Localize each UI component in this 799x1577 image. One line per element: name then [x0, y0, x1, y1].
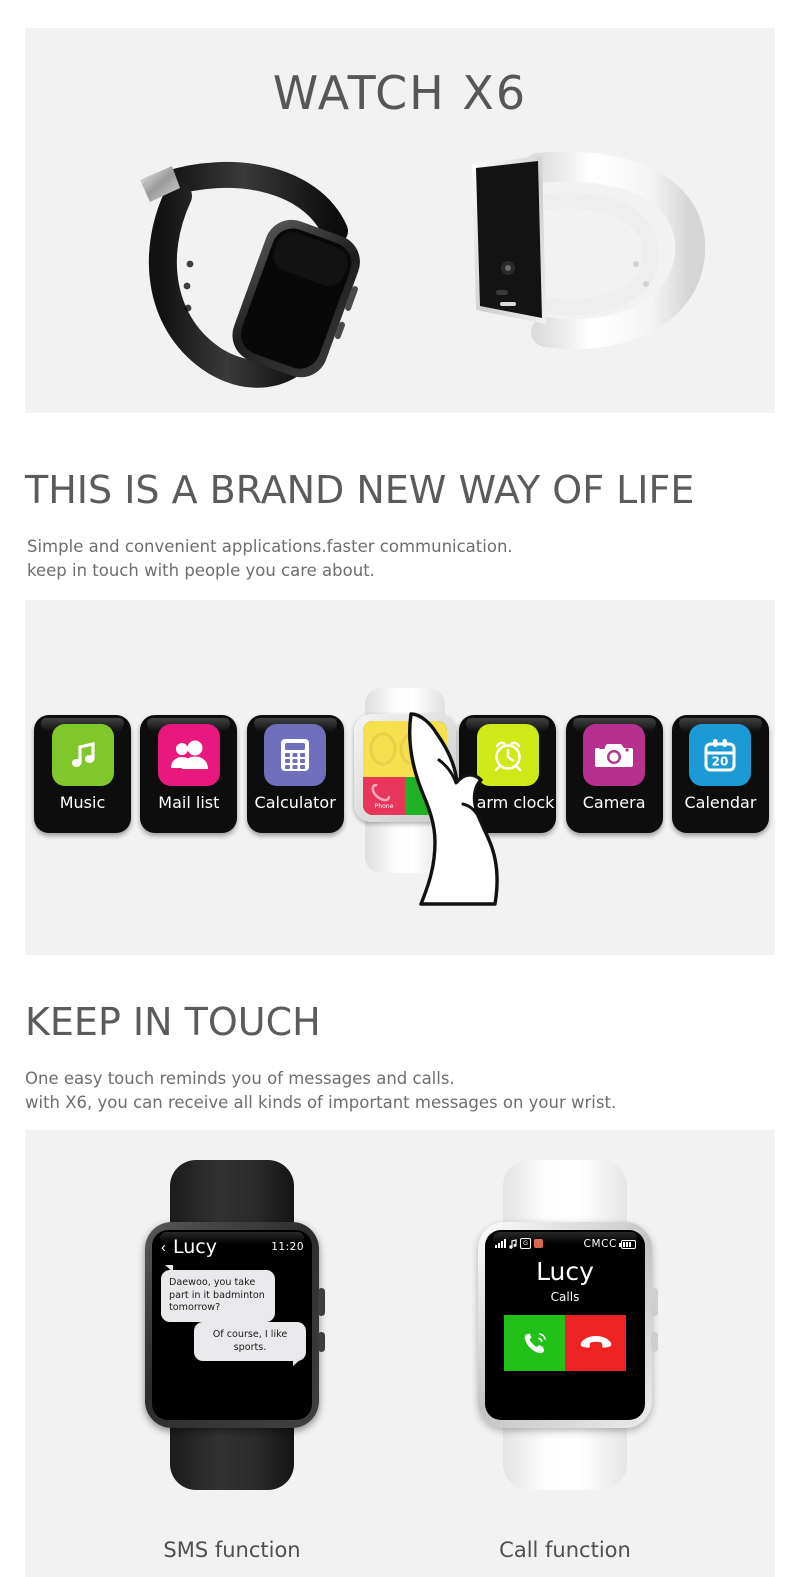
sms-caption: SMS function	[117, 1538, 347, 1562]
g-network-badge-icon: G	[520, 1238, 531, 1249]
camera-icon	[583, 724, 645, 786]
sms-timestamp: 11:20	[271, 1241, 304, 1253]
music-note-icon	[52, 724, 114, 786]
sms-watch-side-button-bottom[interactable]	[318, 1332, 325, 1352]
app-label-mail-list: Mail list	[158, 793, 219, 812]
sms-watch-side-button-top[interactable]	[318, 1288, 325, 1316]
app-label-calculator: Calculator	[255, 793, 336, 812]
section-sub-touch-line2: with X6, you can receive all kinds of im…	[25, 1090, 616, 1115]
sms-bubble-outgoing: Of course, I like sports.	[194, 1322, 306, 1361]
status-right-group: CMCC	[584, 1238, 636, 1250]
sms-bubble-incoming: Daewoo, you take part in it badminton to…	[161, 1270, 275, 1322]
status-left-group: G	[495, 1238, 543, 1249]
section-sub-life-line1: Simple and convenient applications.faste…	[27, 534, 513, 559]
hero-white-watch-image	[450, 146, 715, 361]
back-chevron-icon[interactable]: ‹	[161, 1239, 166, 1257]
calendar-day-number: 20	[712, 755, 729, 769]
app-tile-music[interactable]: Music	[34, 715, 131, 833]
section-title-life: THIS IS A BRAND NEW WAY OF LIFE	[25, 468, 694, 512]
call-watch-side-button-top[interactable]	[651, 1288, 658, 1316]
app-label-calendar: Calendar	[684, 793, 756, 812]
signal-bars-icon	[495, 1239, 506, 1248]
sms-watch-screen: ‹ Lucy 11:20 Daewoo, you take part in it…	[152, 1230, 312, 1420]
call-contact-name: Lucy	[485, 1257, 645, 1286]
phone-answer-icon	[520, 1328, 550, 1358]
music-note-status-icon	[509, 1239, 517, 1249]
app-tile-mail-list[interactable]: Mail list	[140, 715, 237, 833]
calculator-icon	[264, 724, 326, 786]
app-tile-calendar[interactable]: 20 Calendar	[672, 715, 769, 833]
section-sub-life-line2: keep in touch with people you care about…	[27, 558, 375, 583]
carrier-label: CMCC	[584, 1238, 617, 1250]
battery-icon	[621, 1240, 636, 1249]
center-watch-demo[interactable]: Phone	[351, 688, 459, 873]
phone-hangup-icon	[579, 1330, 613, 1356]
call-status-label: Calls	[485, 1290, 645, 1304]
accept-call-button[interactable]	[504, 1315, 565, 1371]
call-action-buttons	[504, 1315, 626, 1371]
calendar-icon: 20	[689, 724, 751, 786]
call-caption: Call function	[450, 1538, 680, 1562]
app-tile-camera[interactable]: Camera	[566, 715, 663, 833]
page-title: WATCH X6	[25, 66, 775, 120]
call-watch: G CMCC Lucy Calls	[465, 1160, 665, 1490]
app-label-music: Music	[60, 793, 106, 812]
call-demo-column: G CMCC Lucy Calls	[450, 1160, 680, 1500]
call-status-bar: G CMCC	[485, 1238, 645, 1252]
sms-demo-column: ‹ Lucy 11:20 Daewoo, you take part in it…	[117, 1160, 347, 1500]
call-watch-side-button-bottom[interactable]	[651, 1332, 658, 1352]
hero-black-watch-image	[120, 136, 410, 401]
sms-contact-name: Lucy	[173, 1236, 217, 1258]
alert-square-icon	[534, 1239, 543, 1248]
sms-header: ‹ Lucy 11:20	[152, 1239, 312, 1259]
app-tile-calculator[interactable]: Calculator	[247, 715, 344, 833]
decline-call-button[interactable]	[565, 1315, 626, 1371]
sms-watch: ‹ Lucy 11:20 Daewoo, you take part in it…	[132, 1160, 332, 1490]
hero-panel: WATCH X6	[25, 28, 775, 413]
call-watch-screen: G CMCC Lucy Calls	[485, 1230, 645, 1420]
app-label-camera: Camera	[583, 793, 646, 812]
section-title-touch: KEEP IN TOUCH	[25, 1000, 321, 1044]
product-landing-page: WATCH X6	[0, 0, 799, 1577]
section-sub-touch-line1: One easy touch reminds you of messages a…	[25, 1066, 455, 1091]
keep-in-touch-panel: ‹ Lucy 11:20 Daewoo, you take part in it…	[25, 1130, 775, 1577]
hero-product-stage	[25, 128, 775, 413]
pointing-hand-icon	[377, 708, 502, 908]
contacts-icon	[158, 724, 220, 786]
